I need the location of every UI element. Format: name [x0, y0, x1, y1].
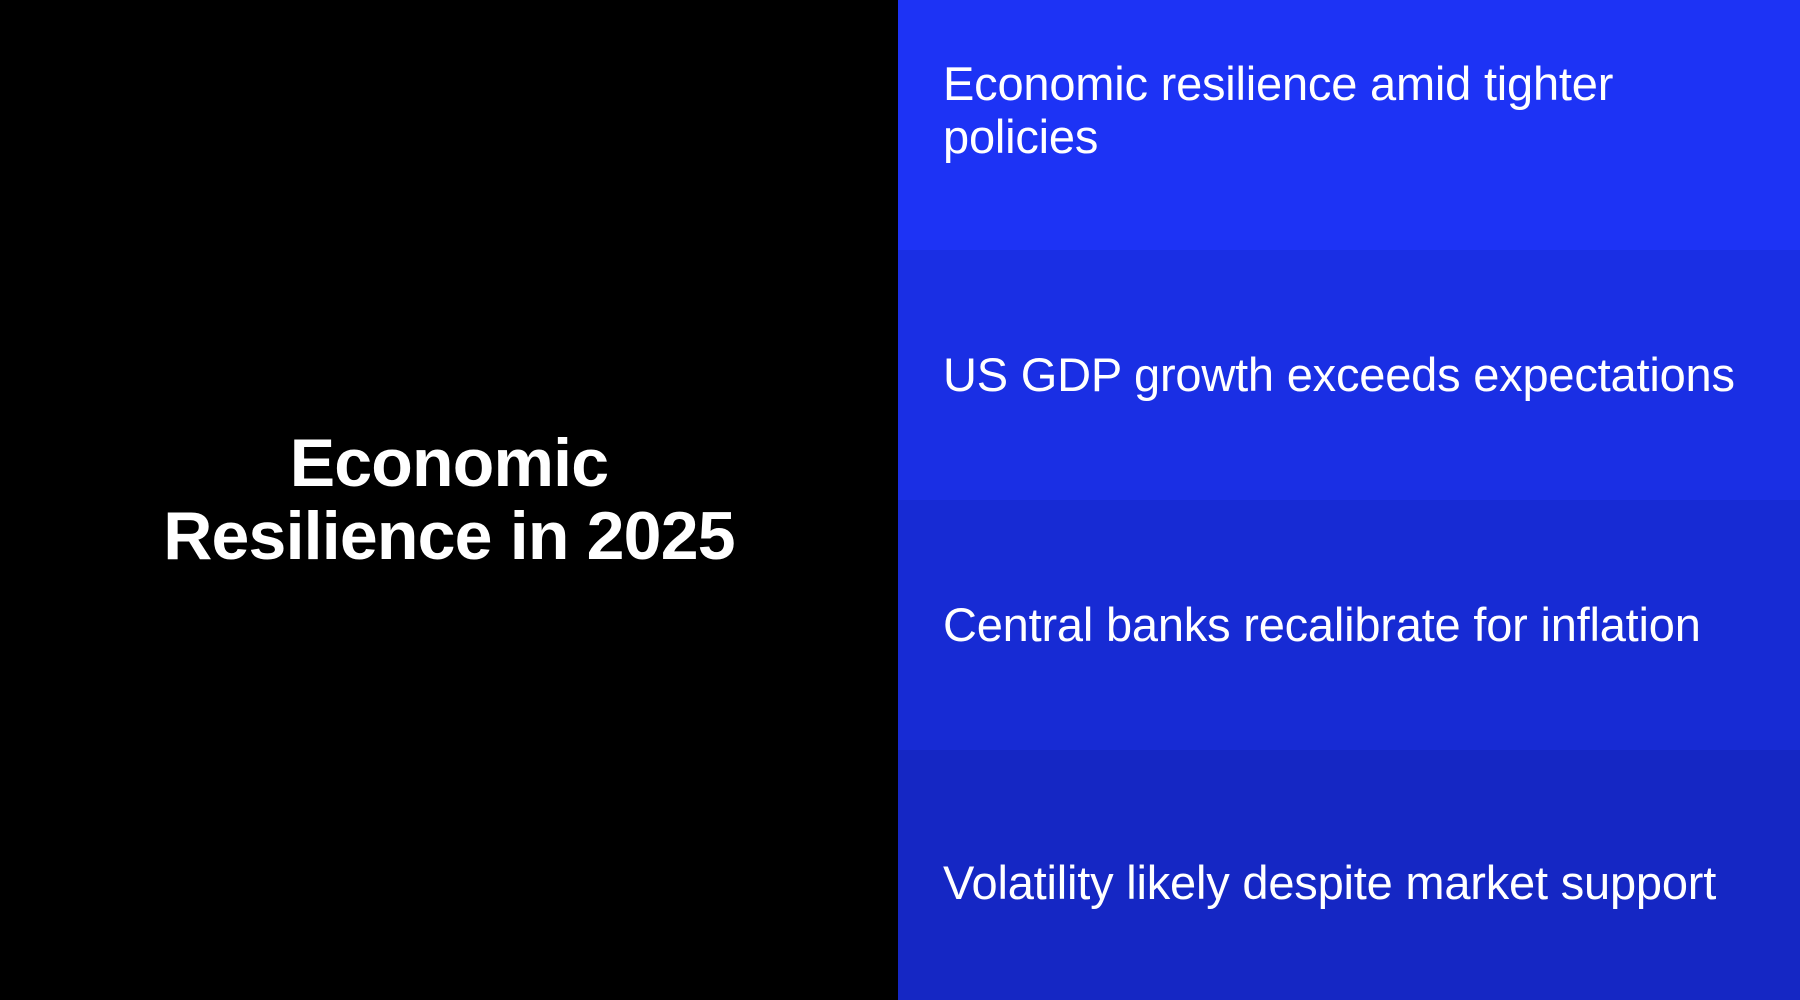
point-text: Central banks recalibrate for inflation — [943, 599, 1701, 652]
page-title: Economic Resilience in 2025 — [129, 427, 769, 574]
point-text: US GDP growth exceeds expectations — [943, 349, 1735, 402]
list-item[interactable]: Economic resilience amid tighter policie… — [898, 0, 1800, 250]
list-item[interactable]: Central banks recalibrate for inflation — [898, 500, 1800, 750]
title-panel: Economic Resilience in 2025 — [0, 0, 898, 1000]
list-item[interactable]: US GDP growth exceeds expectations — [898, 250, 1800, 500]
point-text: Volatility likely despite market support — [943, 857, 1716, 910]
point-text: Economic resilience amid tighter policie… — [943, 58, 1755, 163]
key-points-list: Economic resilience amid tighter policie… — [898, 0, 1800, 1000]
list-item[interactable]: Volatility likely despite market support — [898, 750, 1800, 1000]
slide-root: Economic Resilience in 2025 Economic res… — [0, 0, 1800, 1000]
